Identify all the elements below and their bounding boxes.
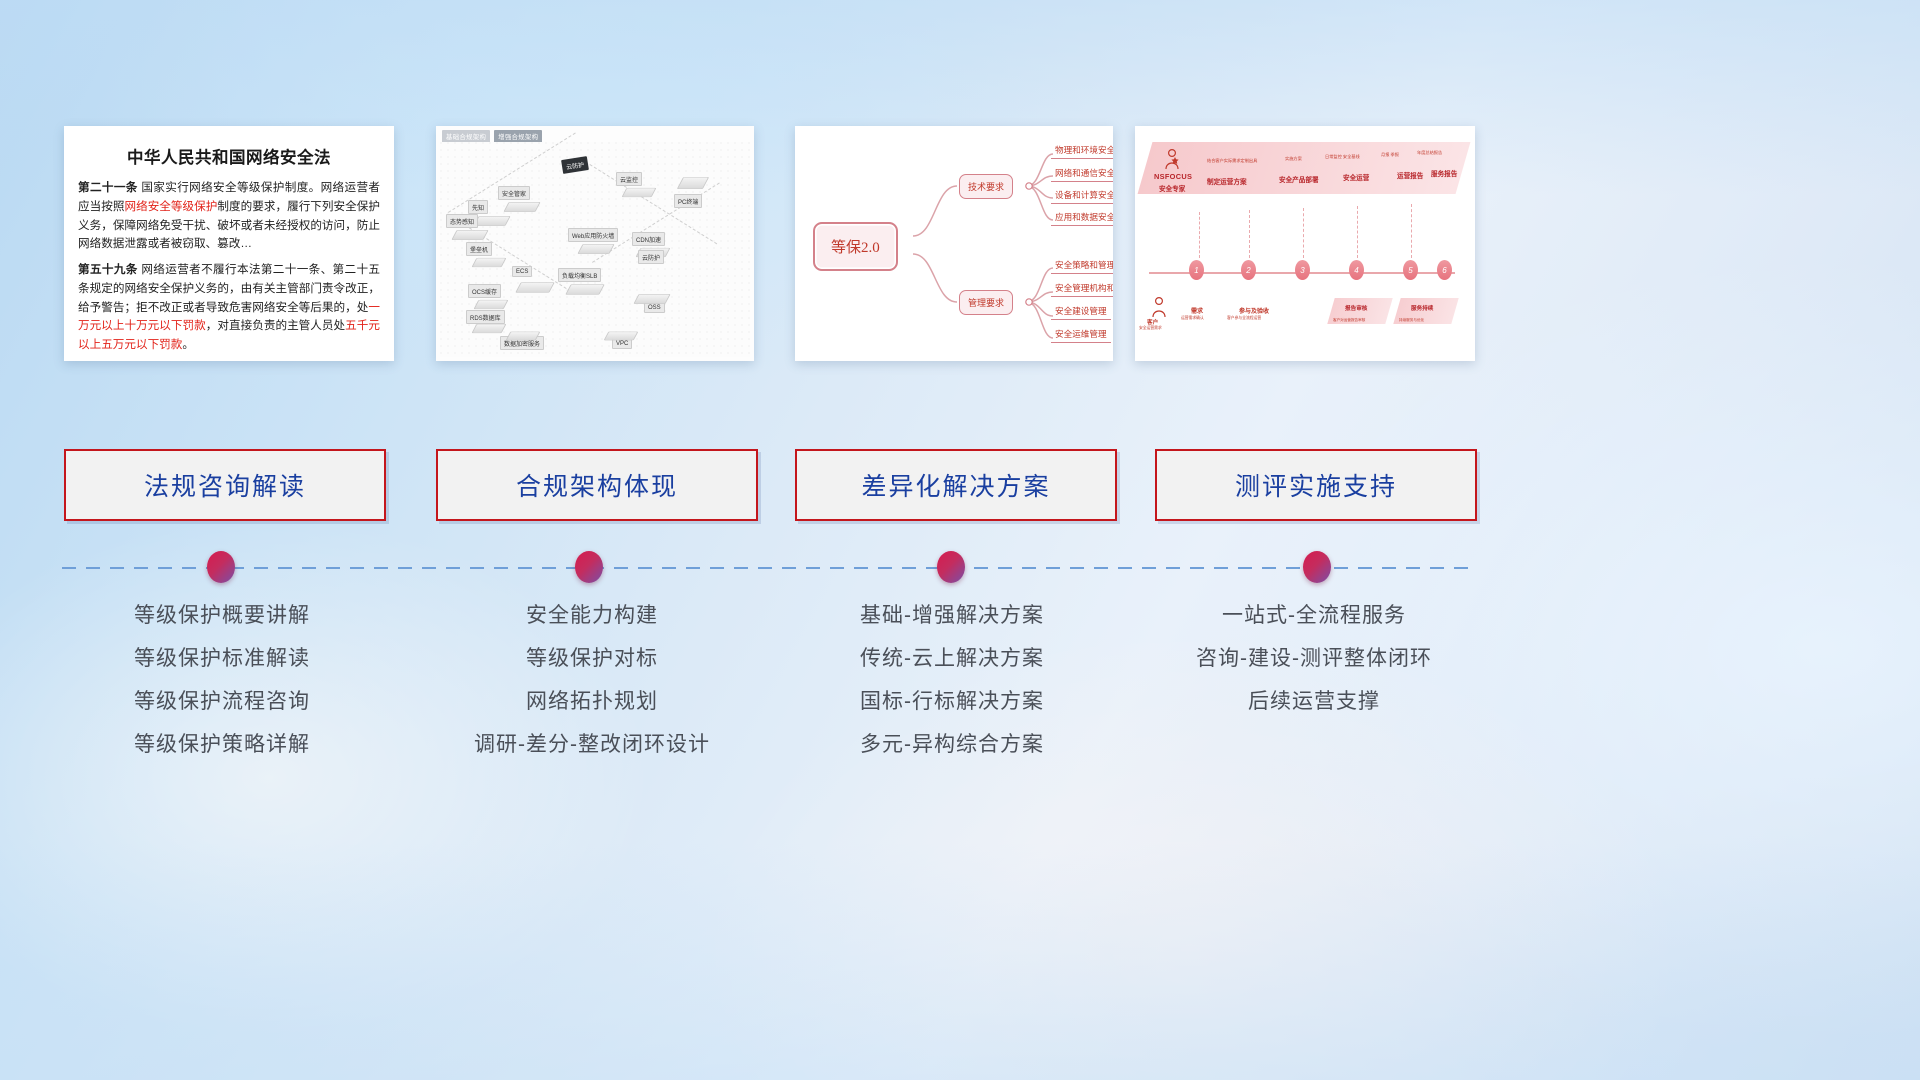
architecture-diagram: 基础合规架构 增强合规架构 云防护 安全管家 先知 态势感知 bbox=[436, 126, 754, 361]
list-item: 等级保护标准解读 bbox=[42, 648, 402, 669]
step-5-sub: 年度总结报告 bbox=[1417, 150, 1442, 156]
stage: 中华人民共和国网络安全法 第二十一条 国家实行网络安全等级保护制度。网络运营者应… bbox=[0, 0, 1920, 1080]
mindmap: 等保2.0 技术要求 管理要求 物理和环境安全 网络和通信安全 设备和计算安全 … bbox=[795, 126, 1113, 361]
node-shape bbox=[472, 324, 507, 333]
node-shape bbox=[565, 284, 605, 294]
bottom-0-sub: 安全运营需求 bbox=[1139, 326, 1162, 331]
node-shape bbox=[503, 202, 540, 212]
node-shape bbox=[473, 216, 510, 226]
step-1-title: 制定运营方案 bbox=[1207, 176, 1247, 186]
node-label-waf: Web应用防火墙 bbox=[568, 228, 618, 242]
node-label-xianzhi: 先知 bbox=[468, 200, 488, 214]
timeline-marker-2[interactable]: 2 bbox=[1241, 260, 1256, 280]
list-item: 基础-增强解决方案 bbox=[772, 605, 1132, 626]
architecture-canvas: 云防护 安全管家 先知 态势感知 堡垒机 ECS 负载均衡SLB Web应用防火 bbox=[440, 142, 750, 357]
step-1-sub: 结合客户实际需求定制出具 bbox=[1207, 158, 1257, 164]
article-59-mid: ，对直接负责的主管人员处 bbox=[206, 319, 345, 332]
law-document-title: 中华人民共和国网络安全法 bbox=[78, 144, 380, 168]
mindmap-root-node[interactable]: 等保2.0 bbox=[813, 222, 898, 271]
mindmap-branch-technical[interactable]: 技术要求 bbox=[959, 174, 1013, 199]
node-label-pc: PC终端 bbox=[674, 194, 702, 208]
node-label-situation-awareness: 态势感知 bbox=[446, 214, 478, 228]
step-3-sub: 日常监控 安全基线 bbox=[1325, 154, 1360, 160]
article-21-highlight: 网络安全等级保护 bbox=[124, 200, 217, 213]
nsfocus-timeline: NSFOCUS 安全专家 结合客户实际需求定制出具 制定运营方案 实施方案 安全… bbox=[1135, 126, 1475, 361]
list-item: 国标-行标解决方案 bbox=[772, 691, 1132, 712]
list-item: 等级保护流程咨询 bbox=[42, 691, 402, 712]
column-regulation: 等级保护概要讲解 等级保护标准解读 等级保护流程咨询 等级保护策略详解 bbox=[42, 605, 402, 777]
bottom-2-title: 参与及验收 bbox=[1239, 306, 1269, 315]
expert-person-icon bbox=[1163, 148, 1181, 170]
timeline-dot-2[interactable] bbox=[575, 551, 603, 583]
title-box-solution[interactable]: 差异化解决方案 bbox=[795, 449, 1117, 521]
nsfocus-brand-sub: 安全专家 bbox=[1159, 183, 1185, 193]
column-support: 一站式-全流程服务 咨询-建设-测评整体闭环 后续运营支撑 bbox=[1134, 605, 1494, 734]
mindmap-leaf-network-comm: 网络和通信安全 bbox=[1051, 167, 1113, 182]
timeline-stem bbox=[1303, 208, 1304, 258]
node-shape bbox=[622, 188, 657, 197]
node-label-cloud-monitor: 云监控 bbox=[616, 172, 642, 186]
bottom-3-title: 报告审核 bbox=[1345, 304, 1367, 312]
title-box-solution-label: 差异化解决方案 bbox=[861, 467, 1050, 503]
law-article-21: 第二十一条 国家实行网络安全等级保护制度。网络运营者应当按照网络安全等级保护制度… bbox=[78, 179, 380, 254]
mindmap-leaf-app-data: 应用和数据安全 bbox=[1051, 211, 1113, 226]
title-box-regulation-label: 法规咨询解读 bbox=[144, 467, 306, 503]
card-nsfocus-timeline[interactable]: NSFOCUS 安全专家 结合客户实际需求定制出具 制定运营方案 实施方案 安全… bbox=[1135, 126, 1475, 361]
step-2-title: 安全产品部署 bbox=[1279, 174, 1319, 184]
law-article-59: 第五十九条 网络运营者不履行本法第二十一条、第二十五条规定的网络安全保护义务的，… bbox=[78, 261, 380, 355]
node-label-security-butler: 安全管家 bbox=[498, 186, 530, 200]
bottom-3-sub: 客户对运营报告审核 bbox=[1333, 318, 1365, 323]
timeline-dashed-line bbox=[62, 567, 1476, 569]
preview-cards-row: 中华人民共和国网络安全法 第二十一条 国家实行网络安全等级保护制度。网络运营者应… bbox=[0, 126, 1920, 366]
list-item: 一站式-全流程服务 bbox=[1134, 605, 1494, 626]
list-item: 安全能力构建 bbox=[412, 605, 772, 626]
title-box-architecture[interactable]: 合规架构体现 bbox=[436, 449, 758, 521]
node-label-ecs: ECS bbox=[512, 266, 532, 277]
card-dengbao-mindmap[interactable]: 等保2.0 技术要求 管理要求 物理和环境安全 网络和通信安全 设备和计算安全 … bbox=[795, 126, 1113, 361]
node-label-rds: RDS数据库 bbox=[466, 310, 505, 324]
list-item: 多元-异构综合方案 bbox=[772, 734, 1132, 755]
law-document: 中华人民共和国网络安全法 第二十一条 国家实行网络安全等级保护制度。网络运营者应… bbox=[64, 126, 394, 361]
timeline-stem bbox=[1411, 204, 1412, 258]
node-shape bbox=[633, 294, 670, 304]
column-architecture: 安全能力构建 等级保护对标 网络拓扑规划 调研-差分-整改闭环设计 bbox=[412, 605, 772, 777]
list-item: 等级保护策略详解 bbox=[42, 734, 402, 755]
mindmap-leaf-device-compute: 设备和计算安全 bbox=[1051, 189, 1113, 204]
node-shape bbox=[604, 332, 639, 341]
node-shape bbox=[506, 332, 541, 341]
timeline-marker-6[interactable]: 6 bbox=[1437, 260, 1452, 280]
bottom-1-title: 需求 bbox=[1191, 306, 1203, 315]
title-box-regulation[interactable]: 法规咨询解读 bbox=[64, 449, 386, 521]
timeline-stem bbox=[1199, 212, 1200, 258]
node-shape bbox=[474, 300, 509, 309]
node-label-cloudshield: 云防护 bbox=[561, 156, 589, 174]
article-21-label: 第二十一条 bbox=[78, 181, 138, 194]
list-item: 传统-云上解决方案 bbox=[772, 648, 1132, 669]
node-label-ocs: OCS缓存 bbox=[468, 284, 501, 298]
nsfocus-header-content: NSFOCUS 安全专家 结合客户实际需求定制出具 制定运营方案 实施方案 安全… bbox=[1145, 142, 1463, 194]
timeline-dot-1[interactable] bbox=[207, 551, 235, 583]
mindmap-branch-management[interactable]: 管理要求 bbox=[959, 290, 1013, 315]
step-4-title: 运营报告 bbox=[1397, 170, 1423, 180]
node-label-slb: 负载均衡SLB bbox=[558, 268, 601, 282]
card-cybersecurity-law[interactable]: 中华人民共和国网络安全法 第二十一条 国家实行网络安全等级保护制度。网络运营者应… bbox=[64, 126, 394, 361]
node-label-bastion: 堡垒机 bbox=[466, 242, 492, 256]
node-shape bbox=[515, 282, 555, 292]
timeline-marker-4[interactable]: 4 bbox=[1349, 260, 1364, 280]
customer-person-icon bbox=[1149, 296, 1169, 318]
bottom-4-sub: 持续服务与优化 bbox=[1399, 318, 1424, 323]
list-item: 等级保护对标 bbox=[412, 648, 772, 669]
list-item: 调研-差分-整改闭环设计 bbox=[412, 734, 772, 755]
list-item: 咨询-建设-测评整体闭环 bbox=[1134, 648, 1494, 669]
mindmap-leaf-physical-env: 物理和环境安全 bbox=[1051, 144, 1113, 159]
timeline-dot-4[interactable] bbox=[1303, 551, 1331, 583]
timeline-marker-3[interactable]: 3 bbox=[1295, 260, 1310, 280]
timeline-stem bbox=[1249, 210, 1250, 258]
node-shape bbox=[451, 230, 488, 240]
list-item: 后续运营支撑 bbox=[1134, 691, 1494, 712]
article-59-after: 。 bbox=[182, 338, 194, 351]
node-label-cloud-protect: 云防护 bbox=[638, 250, 664, 264]
step-4-sub: 月报 季报 bbox=[1381, 152, 1399, 158]
mindmap-leaf-construction-mgmt: 安全建设管理 bbox=[1051, 305, 1111, 320]
title-box-support[interactable]: 测评实施支持 bbox=[1155, 449, 1477, 521]
step-2-sub: 实施方案 bbox=[1285, 156, 1302, 162]
article-59-label: 第五十九条 bbox=[78, 263, 138, 276]
timeline-marker-1[interactable]: 1 bbox=[1189, 260, 1204, 280]
step-5-title: 服务报告 bbox=[1431, 168, 1457, 178]
nsfocus-brand: NSFOCUS bbox=[1154, 172, 1192, 181]
node-shape bbox=[472, 258, 507, 267]
column-solution: 基础-增强解决方案 传统-云上解决方案 国标-行标解决方案 多元-异构综合方案 bbox=[772, 605, 1132, 777]
card-compliance-architecture[interactable]: 基础合规架构 增强合规架构 云防护 安全管家 先知 态势感知 bbox=[436, 126, 754, 361]
node-shape bbox=[677, 177, 709, 189]
timeline-dot-3[interactable] bbox=[937, 551, 965, 583]
bottom-2-sub: 客户参与全流程运营 bbox=[1227, 316, 1261, 321]
mindmap-leaf-org-personnel: 安全管理机构和人员 bbox=[1051, 282, 1113, 297]
title-box-architecture-label: 合规架构体现 bbox=[516, 467, 678, 503]
timeline-stem bbox=[1357, 206, 1358, 258]
mindmap-leaf-policy-system: 安全策略和管理制度 bbox=[1051, 259, 1113, 274]
bottom-0-title: 客户 bbox=[1147, 318, 1158, 326]
timeline-marker-5[interactable]: 5 bbox=[1403, 260, 1418, 280]
step-3-title: 安全运营 bbox=[1343, 172, 1369, 182]
node-shape bbox=[577, 244, 614, 254]
node-label-cdn: CDN加速 bbox=[632, 232, 665, 246]
bottom-1-sub: 运营需求确认 bbox=[1181, 316, 1204, 321]
list-item: 网络拓扑规划 bbox=[412, 691, 772, 712]
bottom-4-title: 服务持续 bbox=[1411, 304, 1433, 312]
list-item: 等级保护概要讲解 bbox=[42, 605, 402, 626]
title-box-support-label: 测评实施支持 bbox=[1235, 467, 1397, 503]
mindmap-leaf-ops-mgmt: 安全运维管理 bbox=[1051, 328, 1111, 343]
